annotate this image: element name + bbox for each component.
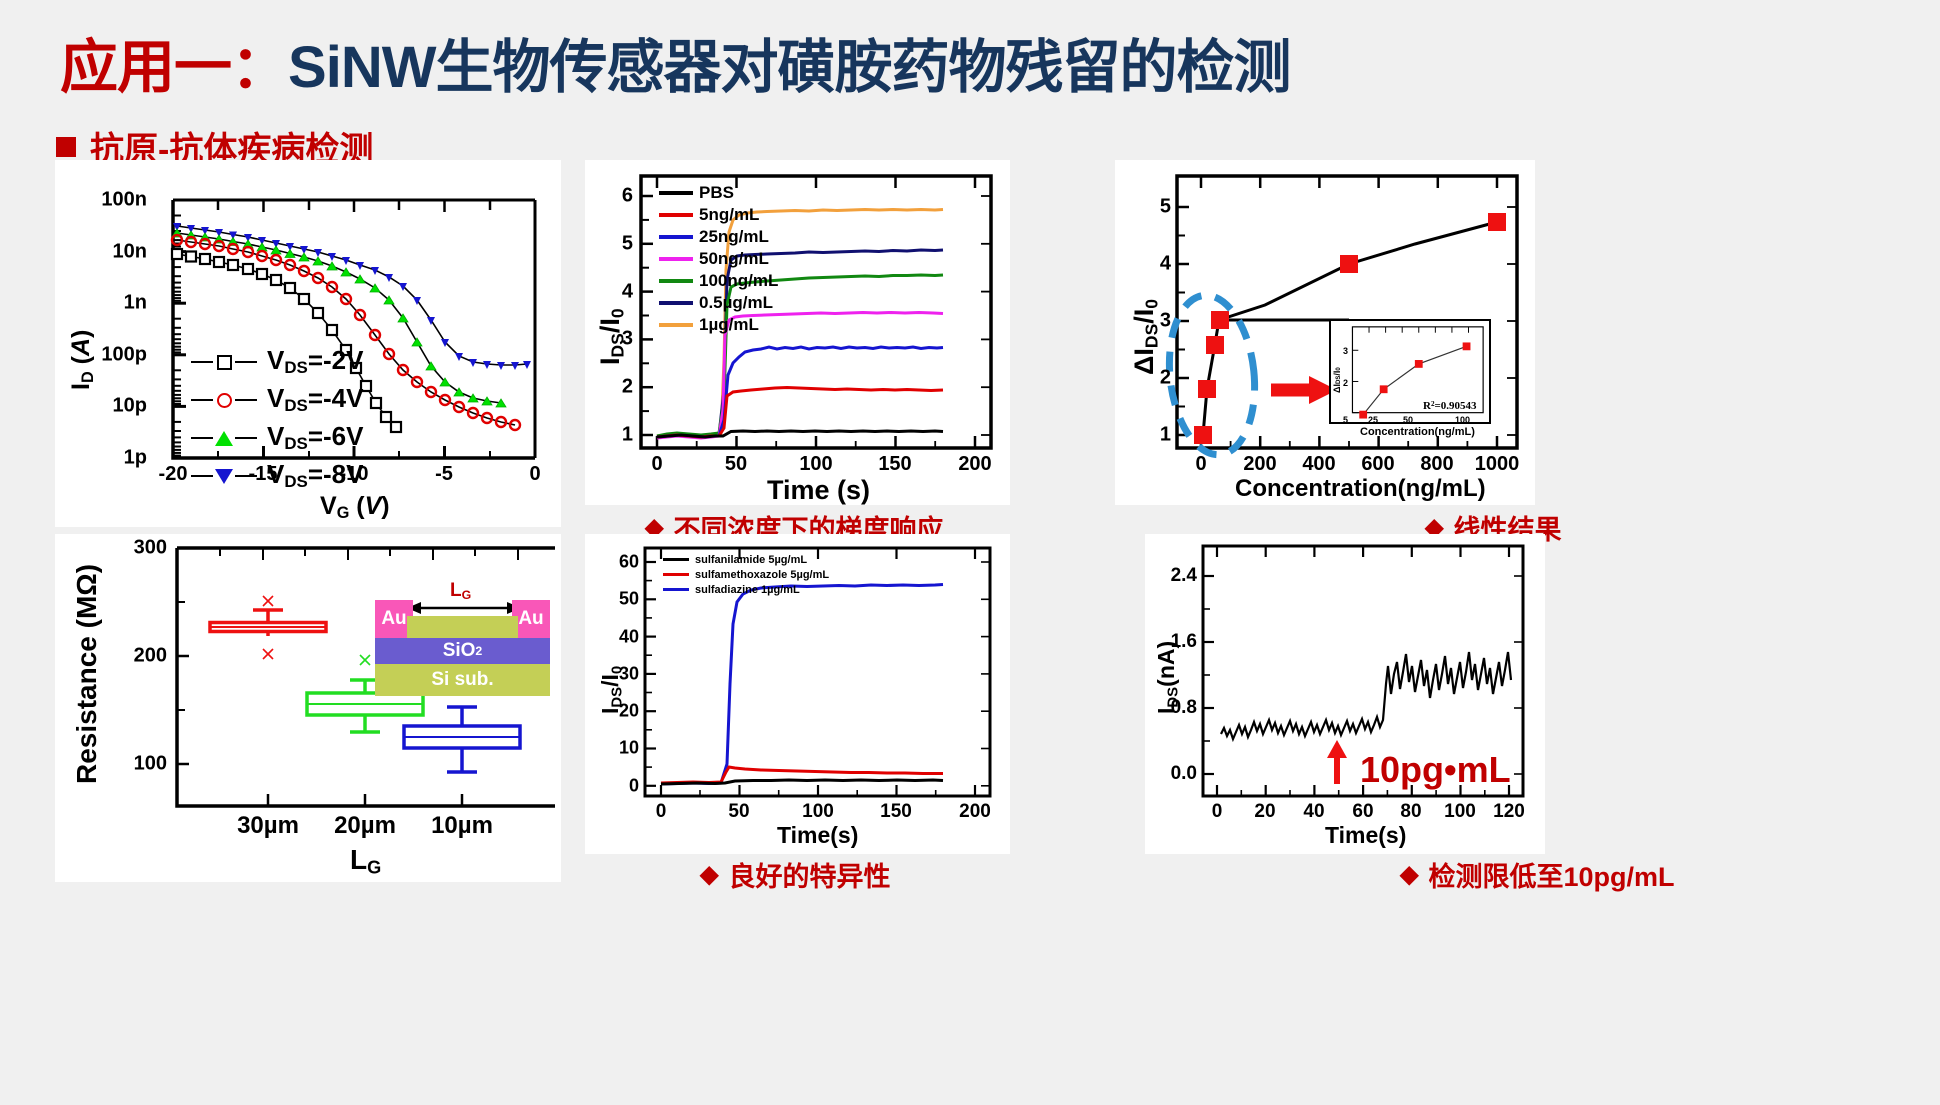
legend-swatch-25ng xyxy=(659,235,693,239)
y-tick-0: 0 xyxy=(601,776,639,797)
legend-item-pbs: PBS xyxy=(659,182,778,204)
legend-label-sulfadiazine: sulfadiazine 1µg/mL xyxy=(695,584,800,596)
inset-y-tick-3: 3 xyxy=(1343,346,1348,356)
y-tick-6: 6 xyxy=(601,185,633,208)
legend-label-5ng: 5ng/mL xyxy=(699,205,759,225)
legend-label-vds-4v: VDS=-4V xyxy=(267,383,363,416)
legend-item-sulfamethoxazole: sulfamethoxazole 5µg/mL xyxy=(663,567,829,582)
panel-calibration: 5 4 3 2 1 0 200 400 600 800 1000 ΔIDS/I0… xyxy=(1115,160,1535,505)
legend-swatch-50ng xyxy=(659,257,693,261)
panel-lod: 2.4 1.6 0.8 0.0 0 20 40 60 80 100 120 ID… xyxy=(1145,534,1545,854)
inset-x-tick-25: 25 xyxy=(1368,415,1378,425)
x-tick-50: 50 xyxy=(725,453,747,476)
lod-plot xyxy=(1145,534,1545,854)
y-tick-1: 1 xyxy=(1137,424,1171,447)
legend-item-5ng: 5ng/mL xyxy=(659,204,778,226)
y-tick-100: 100 xyxy=(105,753,167,776)
x-tick-50: 50 xyxy=(728,801,749,823)
schematic-layer-nanowire xyxy=(407,616,518,638)
inset-x-tick-5: 5 xyxy=(1343,415,1348,425)
panel-resistance-boxplot: 300 200 100 30µm 20µm 10µm Resistance (M… xyxy=(55,534,561,882)
inset-x-axis-label: Concentration(ng/mL) xyxy=(1360,426,1475,438)
y-axis-label: Resistance (MΩ) xyxy=(71,564,103,784)
y-tick-200: 200 xyxy=(105,645,167,668)
legend-item-05ug: 0.5µg/mL xyxy=(659,292,778,314)
y-tick-10n: 10n xyxy=(77,241,147,264)
x-tick-200: 200 xyxy=(959,801,991,823)
legend-label-vds-8v: VDS=-8V xyxy=(267,459,363,492)
y-tick-5: 5 xyxy=(1137,196,1171,219)
page-title-blue: SiNW生物传感器对磺胺药物残留的检测 xyxy=(288,35,1290,100)
x-tick-80: 80 xyxy=(1400,801,1421,823)
x-tick-40: 40 xyxy=(1303,801,1324,823)
legend-swatch-sulfadiazine xyxy=(663,588,689,591)
x-tick-60: 60 xyxy=(1352,801,1373,823)
legend-item-vds-8v: VDS=-8V xyxy=(191,457,363,495)
panel-concentration-response: 6 5 4 3 2 1 0 50 100 150 200 IDS/I0 Time… xyxy=(585,160,1010,505)
y-tick-60: 60 xyxy=(601,552,639,573)
inset-x-tick-100: 100 xyxy=(1455,415,1470,425)
x-tick-neg20: -20 xyxy=(159,463,188,486)
x-tick-0: 0 xyxy=(1195,453,1206,476)
y-tick-0-0: 0.0 xyxy=(1151,763,1197,785)
triangle-up-marker-icon xyxy=(215,431,233,446)
panel-transfer-curves: 100n 10n 1n 100p 10p 1p -20 -15 -10 -5 0… xyxy=(55,160,561,527)
x-axis-label: Concentration(ng/mL) xyxy=(1235,475,1486,503)
x-tick-800: 800 xyxy=(1420,453,1453,476)
y-axis-label: ID (A) xyxy=(67,330,98,390)
y-tick-10p: 10p xyxy=(77,395,147,418)
y-tick-2-4: 2.4 xyxy=(1151,565,1197,587)
specificity-legend: sulfanilamide 5µg/mL sulfamethoxazole 5µ… xyxy=(663,552,829,597)
legend-label-sulfamethoxazole: sulfamethoxazole 5µg/mL xyxy=(695,569,829,581)
y-axis-label: ΔIDS/I0 xyxy=(1129,299,1162,375)
device-schematic: LG Au Au SiO2 Si sub. xyxy=(375,582,550,692)
page-title-red: 应用一： xyxy=(60,35,288,100)
x-tick-0: 0 xyxy=(656,801,667,823)
y-tick-100n: 100n xyxy=(77,189,147,212)
caption-panel-6-text: 检测限低至10pg/mL xyxy=(1428,855,1674,894)
legend-swatch-pbs xyxy=(659,191,693,195)
y-tick-2: 2 xyxy=(601,376,633,399)
inset-x-tick-50: 50 xyxy=(1403,415,1413,425)
caption-panel-5: ◆ 良好的特异性 xyxy=(700,855,890,894)
page-title: 应用一：SiNW生物传感器对磺胺药物残留的检测 xyxy=(60,20,1290,104)
x-axis-label: VG (V) xyxy=(320,492,390,523)
y-axis-label: IDS(nA) xyxy=(1153,641,1182,714)
x-axis-label: Time (s) xyxy=(767,475,870,506)
y-tick-10: 10 xyxy=(601,738,639,759)
legend-label-1ug: 1µg/mL xyxy=(699,315,759,335)
x-tick-150: 150 xyxy=(878,453,911,476)
y-tick-300: 300 xyxy=(105,537,167,560)
y-axis-label: IDS/I0 xyxy=(595,308,628,365)
x-tick-200: 200 xyxy=(958,453,991,476)
x-tick-10um: 10µm xyxy=(431,812,493,840)
x-tick-0: 0 xyxy=(651,453,662,476)
legend-label-sulfanilamide: sulfanilamide 5µg/mL xyxy=(695,554,807,566)
triangle-down-marker-icon xyxy=(215,469,233,484)
red-arrow-icon xyxy=(1271,376,1337,404)
square-marker-icon xyxy=(217,355,232,370)
x-axis-label: Time(s) xyxy=(1325,822,1406,849)
inset-r2-label: R2=0.90543 xyxy=(1423,400,1477,412)
x-tick-150: 150 xyxy=(880,801,912,823)
legend-label-vds-2v: VDS=-2V xyxy=(267,345,363,378)
diamond-bullet-icon: ◆ xyxy=(700,863,718,887)
legend-swatch-5ng xyxy=(659,213,693,217)
x-tick-100: 100 xyxy=(1444,801,1476,823)
legend-item-25ng: 25ng/mL xyxy=(659,226,778,248)
legend-label-pbs: PBS xyxy=(699,183,734,203)
legend-item-sulfadiazine: sulfadiazine 1µg/mL xyxy=(663,582,829,597)
x-tick-120: 120 xyxy=(1493,801,1525,823)
concentration-legend: PBS 5ng/mL 25ng/mL 50ng/mL 100ng/mL 0.5µ… xyxy=(659,182,778,336)
x-axis-label: LG xyxy=(350,844,381,879)
transfer-legend: VDS=-2V VDS=-4V VDS=-6V VDS=-8V xyxy=(191,343,363,495)
schematic-layer-si-sub: Si sub. xyxy=(375,664,550,696)
legend-swatch-05ug xyxy=(659,301,693,305)
legend-item-vds-2v: VDS=-2V xyxy=(191,343,363,381)
x-tick-1000: 1000 xyxy=(1475,453,1520,476)
circle-marker-icon xyxy=(217,393,232,408)
x-tick-100: 100 xyxy=(799,453,832,476)
lod-annotation: 10pg•mL xyxy=(1360,749,1511,791)
caption-panel-6: ◆ 检测限低至10pg/mL xyxy=(1400,855,1675,894)
legend-label-100ng: 100ng/mL xyxy=(699,271,778,291)
legend-item-1ug: 1µg/mL xyxy=(659,314,778,336)
x-tick-0: 0 xyxy=(529,463,540,486)
y-tick-4: 4 xyxy=(1137,253,1171,276)
y-axis-label: IDS/I0 xyxy=(597,666,626,714)
calibration-inset: 3 2 ΔIDS/I0 R2=0.90543 xyxy=(1329,319,1491,424)
inset-y-tick-2: 2 xyxy=(1343,378,1348,388)
x-tick-400: 400 xyxy=(1302,453,1335,476)
legend-swatch-100ng xyxy=(659,279,693,283)
y-tick-40: 40 xyxy=(601,627,639,648)
y-tick-5: 5 xyxy=(601,233,633,256)
legend-label-vds-6v: VDS=-6V xyxy=(267,421,363,454)
caption-panel-5-text: 良好的特异性 xyxy=(728,855,890,894)
y-tick-4: 4 xyxy=(601,281,633,304)
y-tick-1n: 1n xyxy=(77,292,147,315)
legend-label-25ng: 25ng/mL xyxy=(699,227,769,247)
y-tick-1: 1 xyxy=(601,424,633,447)
inset-y-axis-label: ΔIDS/I0 xyxy=(1332,367,1342,393)
x-axis-label: Time(s) xyxy=(777,822,858,849)
legend-swatch-1ug xyxy=(659,323,693,327)
diamond-bullet-icon: ◆ xyxy=(1400,863,1418,887)
legend-item-vds-6v: VDS=-6V xyxy=(191,419,363,457)
legend-item-50ng: 50ng/mL xyxy=(659,248,778,270)
x-tick-30um: 30µm xyxy=(237,812,299,840)
legend-item-sulfanilamide: sulfanilamide 5µg/mL xyxy=(663,552,829,567)
legend-label-50ng: 50ng/mL xyxy=(699,249,769,269)
x-tick-200: 200 xyxy=(1243,453,1276,476)
legend-swatch-sulfamethoxazole xyxy=(663,573,689,576)
legend-swatch-sulfanilamide xyxy=(663,558,689,561)
x-tick-20: 20 xyxy=(1254,801,1275,823)
red-up-arrow-icon xyxy=(1327,740,1347,784)
x-tick-600: 600 xyxy=(1361,453,1394,476)
panel-specificity: 60 50 40 30 20 10 0 0 50 100 150 200 IDS… xyxy=(585,534,1010,854)
legend-item-vds-4v: VDS=-4V xyxy=(191,381,363,419)
y-tick-1p: 1p xyxy=(77,447,147,470)
legend-label-05ug: 0.5µg/mL xyxy=(699,293,773,313)
schematic-layer-sio2: SiO2 xyxy=(375,638,550,664)
square-bullet-icon xyxy=(56,137,76,157)
x-tick-0: 0 xyxy=(1212,801,1223,823)
concentration-response-plot xyxy=(585,160,1010,505)
x-tick-20um: 20µm xyxy=(334,812,396,840)
x-tick-neg5: -5 xyxy=(435,463,453,486)
legend-item-100ng: 100ng/mL xyxy=(659,270,778,292)
y-tick-50: 50 xyxy=(601,589,639,610)
x-tick-100: 100 xyxy=(802,801,834,823)
